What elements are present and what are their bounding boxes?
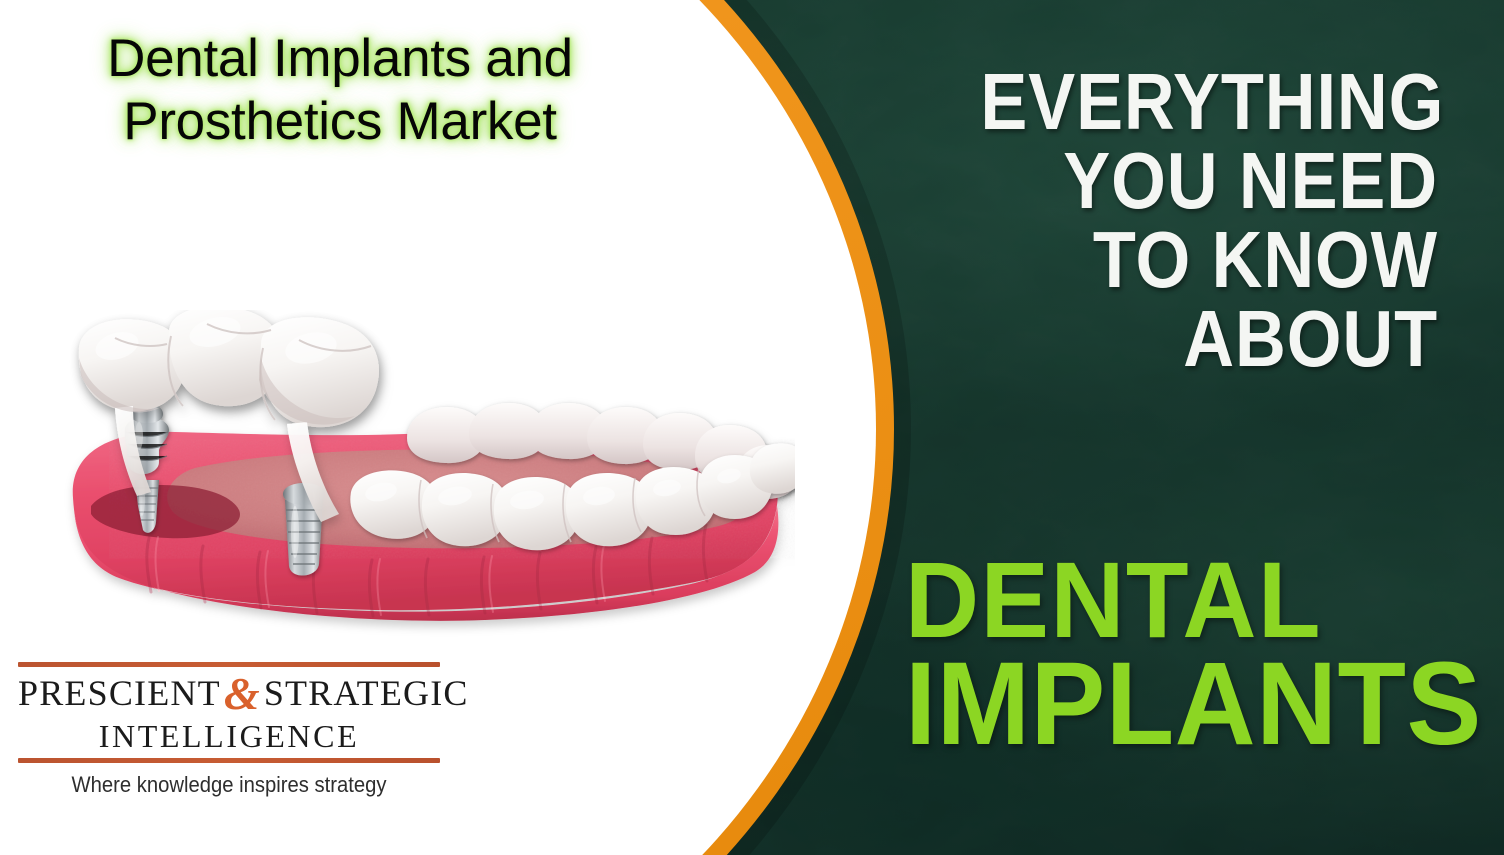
headline-brand-line-1: DENTAL	[905, 548, 1456, 652]
headline-line-4: ABOUT	[980, 299, 1438, 378]
company-logo[interactable]: PRESCIENT&STRATEGIC INTELLIGENCE Where k…	[18, 662, 440, 802]
headline-brand-line-2: IMPLANTS	[905, 652, 1456, 756]
headline-line-3: TO KNOW	[980, 220, 1438, 299]
logo-tagline: Where knowledge inspires strategy	[35, 763, 423, 802]
logo-line-one: PRESCIENT&STRATEGIC	[18, 671, 440, 716]
logo-word-prescient: PRESCIENT	[18, 673, 221, 713]
poster-canvas: Dental Implants and Prosthetics Market	[0, 0, 1504, 855]
logo-word-intelligence: INTELLIGENCE	[18, 716, 440, 756]
headline-line-1: EVERYTHING	[980, 62, 1438, 141]
logo-ampersand: &	[221, 668, 264, 719]
logo-word-strategic: STRATEGIC	[264, 673, 469, 713]
headline-subject: DENTAL IMPLANTS	[905, 548, 1456, 756]
headline-line-2: YOU NEED	[980, 141, 1438, 220]
headline-eyebrow: EVERYTHING YOU NEED TO KNOW ABOUT	[980, 62, 1438, 378]
logo-rule-top	[18, 662, 440, 667]
dental-implant-model-illustration	[55, 310, 795, 660]
page-title: Dental Implants and Prosthetics Market	[20, 28, 660, 153]
